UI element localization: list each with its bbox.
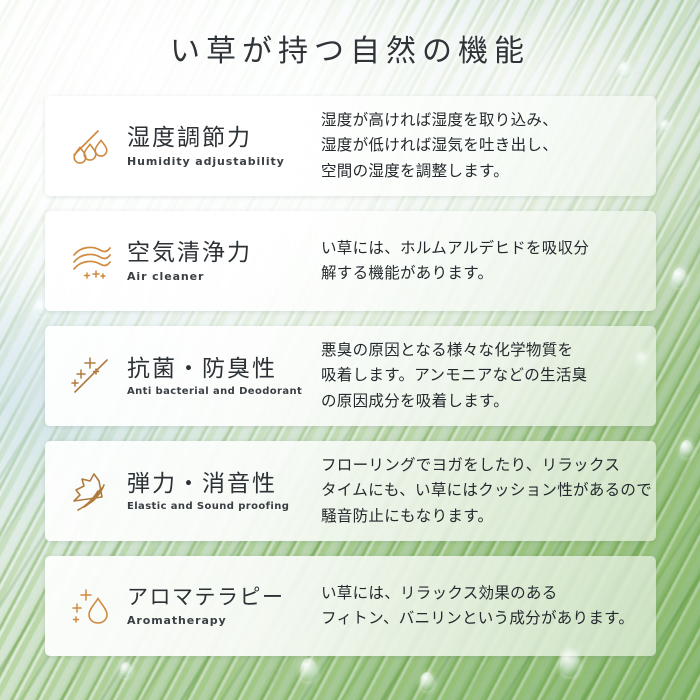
- feature-title-ja: 弾力・消音性: [127, 470, 319, 497]
- water-droplet: [672, 268, 687, 288]
- feature-title-ja: 抗菌・防臭性: [127, 355, 319, 382]
- aroma-droplet-icon: [61, 583, 123, 629]
- feature-description-humidity: 湿度が高ければ湿度を取り込み、 湿度が低ければ湿気を吐き出し、 空間の湿度を調整…: [319, 108, 656, 183]
- humidity-droplets-icon: [61, 123, 123, 169]
- feature-card-humidity[interactable]: 湿度調節力 Humidity adjustability 湿度が高ければ湿度を取…: [45, 96, 656, 196]
- feature-title-en: Aromatherapy: [127, 614, 319, 627]
- description-line: い草には、リラックス効果のある: [321, 581, 646, 606]
- feature-card-air-cleaner[interactable]: 空気清浄力 Air cleaner い草には、ホルムアルデヒドを吸収分 解する機…: [45, 211, 656, 311]
- feature-title-en: Air cleaner: [127, 270, 319, 283]
- feature-label-air-cleaner: 空気清浄力 Air cleaner: [123, 239, 319, 283]
- feature-card-elastic[interactable]: 弾力・消音性 Elastic and Sound proofing フローリング…: [45, 441, 656, 541]
- description-line: 湿度が低ければ湿気を吐き出し、: [321, 133, 646, 158]
- feature-description-air-cleaner: い草には、ホルムアルデヒドを吸収分 解する機能があります。: [319, 236, 656, 286]
- feature-description-aromatherapy: い草には、リラックス効果のある フィトン、バニリンという成分があります。: [319, 581, 656, 631]
- description-line: 吸着します。アンモニアなどの生活臭: [321, 363, 646, 388]
- feature-label-elastic: 弾力・消音性 Elastic and Sound proofing: [123, 470, 319, 512]
- feature-card-aromatherapy[interactable]: アロマテラピー Aromatherapy い草には、リラックス効果のある フィト…: [45, 556, 656, 656]
- feature-title-en: Anti bacterial and Deodorant: [127, 386, 319, 397]
- description-line: 空間の湿度を調整します。: [321, 159, 646, 184]
- description-line: タイムにも、い草にはクッション性があるので: [321, 478, 652, 503]
- feature-label-aromatherapy: アロマテラピー Aromatherapy: [123, 585, 319, 627]
- description-line: フローリングでヨガをしたり、リラックス: [321, 453, 652, 478]
- water-droplet: [660, 120, 670, 133]
- bounce-cushion-icon: [61, 467, 123, 515]
- sparkle-wand-icon: [61, 353, 123, 399]
- feature-description-elastic: フローリングでヨガをしたり、リラックス タイムにも、い草にはクッション性があるの…: [319, 453, 662, 528]
- feature-title-ja: 空気清浄力: [127, 239, 319, 266]
- feature-title-ja: アロマテラピー: [127, 585, 319, 610]
- feature-label-humidity: 湿度調節力 Humidity adjustability: [123, 124, 319, 168]
- water-droplet: [300, 658, 317, 682]
- feature-card-list: 湿度調節力 Humidity adjustability 湿度が高ければ湿度を取…: [45, 96, 656, 656]
- feature-title-en: Humidity adjustability: [127, 155, 319, 168]
- description-line: 解する機能があります。: [321, 261, 646, 286]
- air-waves-icon: [61, 238, 123, 284]
- feature-title-en: Elastic and Sound proofing: [127, 501, 319, 512]
- feature-label-anti-bacterial: 抗菌・防臭性 Anti bacterial and Deodorant: [123, 355, 319, 397]
- description-line: の原因成分を吸着します。: [321, 389, 646, 414]
- feature-card-anti-bacterial[interactable]: 抗菌・防臭性 Anti bacterial and Deodorant 悪臭の原…: [45, 326, 656, 426]
- description-line: フィトン、バニリンという成分があります。: [321, 606, 646, 631]
- feature-description-anti-bacterial: 悪臭の原因となる様々な化学物質を 吸着します。アンモニアなどの生活臭 の原因成分…: [319, 338, 656, 413]
- water-droplet: [420, 672, 434, 691]
- poster-stage: い草が持つ自然の機能 湿度調節力 Humidity adjustability …: [0, 0, 700, 700]
- description-line: い草には、ホルムアルデヒドを吸収分: [321, 236, 646, 261]
- feature-title-ja: 湿度調節力: [127, 124, 319, 151]
- page-title: い草が持つ自然の機能: [0, 26, 700, 70]
- water-droplet: [120, 662, 132, 678]
- description-line: 悪臭の原因となる様々な化学物質を: [321, 338, 646, 363]
- description-line: 騒音防止にもなります。: [321, 504, 652, 529]
- water-droplet: [680, 440, 693, 458]
- description-line: 湿度が高ければ湿度を取り込み、: [321, 108, 646, 133]
